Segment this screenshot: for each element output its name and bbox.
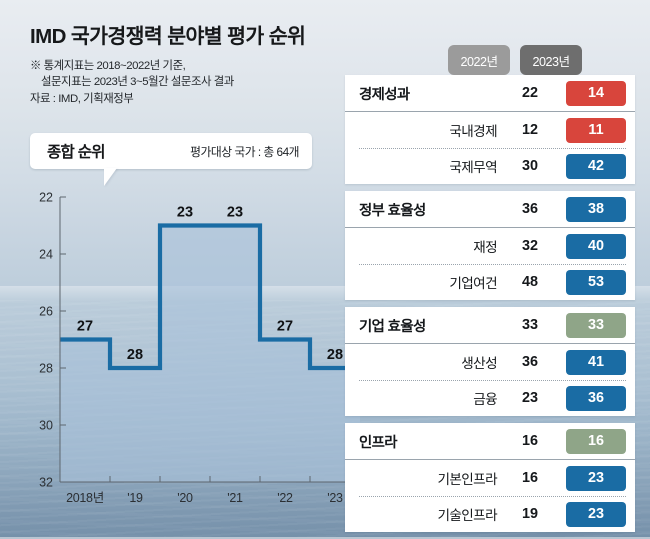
rank-previous-year: 32 — [505, 238, 555, 254]
rank-previous-year: 30 — [505, 158, 555, 174]
row-label: 인프라 — [359, 431, 505, 452]
y-axis-tick-label: 26 — [39, 305, 53, 319]
rank-current-year-badge: 42 — [566, 154, 626, 179]
row-label: 기업 효율성 — [359, 315, 505, 336]
table-row[interactable]: 기술인프라1923 — [345, 496, 635, 532]
y-axis-tick-label: 22 — [39, 191, 53, 205]
row-label: 금융 — [359, 388, 505, 408]
rank-current-year-badge: 16 — [566, 429, 626, 454]
rank-current-year-badge: 33 — [566, 313, 626, 338]
callout-title: 종합 순위 — [47, 140, 105, 162]
rank-current-year-badge: 11 — [566, 118, 626, 143]
table-group: 정부 효율성3638재정3240기업여건4853 — [345, 191, 635, 300]
x-axis-tick-label: '23 — [327, 491, 343, 505]
rank-previous-year: 33 — [505, 317, 555, 333]
row-label: 생산성 — [359, 352, 505, 372]
table-row-category[interactable]: 경제성과2214 — [345, 75, 635, 112]
rank-previous-year: 19 — [505, 506, 555, 522]
y-axis-tick-label: 24 — [39, 248, 53, 262]
table-header-row: 2022년2023년 — [345, 45, 635, 75]
rank-current-year-badge: 23 — [566, 466, 626, 491]
rank-current-year-badge: 14 — [566, 81, 626, 106]
row-label: 기술인프라 — [359, 504, 505, 524]
table-row[interactable]: 금융2336 — [345, 380, 635, 416]
table-group: 기업 효율성3333생산성3641금융2336 — [345, 307, 635, 416]
rank-current-year-badge: 40 — [566, 234, 626, 259]
table-row[interactable]: 국내경제1211 — [345, 112, 635, 148]
chart-area-fill — [60, 226, 360, 483]
row-label: 재정 — [359, 236, 505, 256]
y-axis-tick-label: 28 — [39, 362, 53, 376]
row-label: 국내경제 — [359, 120, 505, 140]
rank-current-year-badge: 38 — [566, 197, 626, 222]
table-row-category[interactable]: 기업 효율성3333 — [345, 307, 635, 344]
chart-point-label: 28 — [327, 347, 343, 363]
row-label: 기업여건 — [359, 272, 505, 292]
y-axis-tick-label: 32 — [39, 476, 53, 490]
table-row-category[interactable]: 인프라1616 — [345, 423, 635, 460]
row-label: 경제성과 — [359, 83, 505, 104]
chart-svg: 2224262830322018년'19'20'21'22'2327282323… — [22, 185, 362, 520]
row-label: 국제무역 — [359, 156, 505, 176]
table-row-category[interactable]: 정부 효율성3638 — [345, 191, 635, 228]
rank-previous-year: 16 — [505, 470, 555, 486]
chart-point-label: 23 — [177, 205, 193, 221]
callout-tail — [104, 168, 117, 186]
chart-point-label: 27 — [77, 319, 93, 335]
rank-previous-year: 12 — [505, 122, 555, 138]
row-label: 정부 효율성 — [359, 199, 505, 220]
table-group: 경제성과2214국내경제1211국제무역3042 — [345, 75, 635, 184]
x-axis-tick-label: '20 — [177, 491, 193, 505]
rank-current-year-badge: 36 — [566, 386, 626, 411]
x-axis-tick-label: '21 — [227, 491, 243, 505]
table-row[interactable]: 국제무역3042 — [345, 148, 635, 184]
ranking-table: 2022년2023년 경제성과2214국내경제1211국제무역3042정부 효율… — [345, 45, 635, 539]
overall-rank-callout: 종합 순위 평가대상 국가 : 총 64개 — [30, 133, 312, 169]
table-group: 인프라1616기본인프라1623기술인프라1923 — [345, 423, 635, 532]
rank-current-year-badge: 23 — [566, 502, 626, 527]
overall-rank-chart: 2224262830322018년'19'20'21'22'2327282323… — [22, 185, 362, 520]
callout-box: 종합 순위 평가대상 국가 : 총 64개 — [30, 133, 312, 169]
x-axis-tick-label: 2018년 — [66, 491, 104, 505]
chart-point-label: 28 — [127, 347, 143, 363]
rank-current-year-badge: 41 — [566, 350, 626, 375]
rank-previous-year: 36 — [505, 201, 555, 217]
chart-point-label: 27 — [277, 319, 293, 335]
x-axis-tick-label: '19 — [127, 491, 143, 505]
y-axis-tick-label: 30 — [39, 419, 53, 433]
table-body: 경제성과2214국내경제1211국제무역3042정부 효율성3638재정3240… — [345, 75, 635, 532]
chart-point-label: 23 — [227, 205, 243, 221]
rank-previous-year: 48 — [505, 274, 555, 290]
rank-previous-year: 23 — [505, 390, 555, 406]
table-column-header-prev: 2022년 — [448, 45, 510, 75]
rank-previous-year: 36 — [505, 354, 555, 370]
x-axis-tick-label: '22 — [277, 491, 293, 505]
table-row[interactable]: 재정3240 — [345, 228, 635, 264]
rank-current-year-badge: 53 — [566, 270, 626, 295]
table-row[interactable]: 기업여건4853 — [345, 264, 635, 300]
table-column-header-current: 2023년 — [520, 45, 582, 75]
table-row[interactable]: 생산성3641 — [345, 344, 635, 380]
rank-previous-year: 22 — [505, 85, 555, 101]
table-row[interactable]: 기본인프라1623 — [345, 460, 635, 496]
rank-previous-year: 16 — [505, 433, 555, 449]
callout-subtitle: 평가대상 국가 : 총 64개 — [190, 143, 299, 160]
row-label: 기본인프라 — [359, 468, 505, 488]
